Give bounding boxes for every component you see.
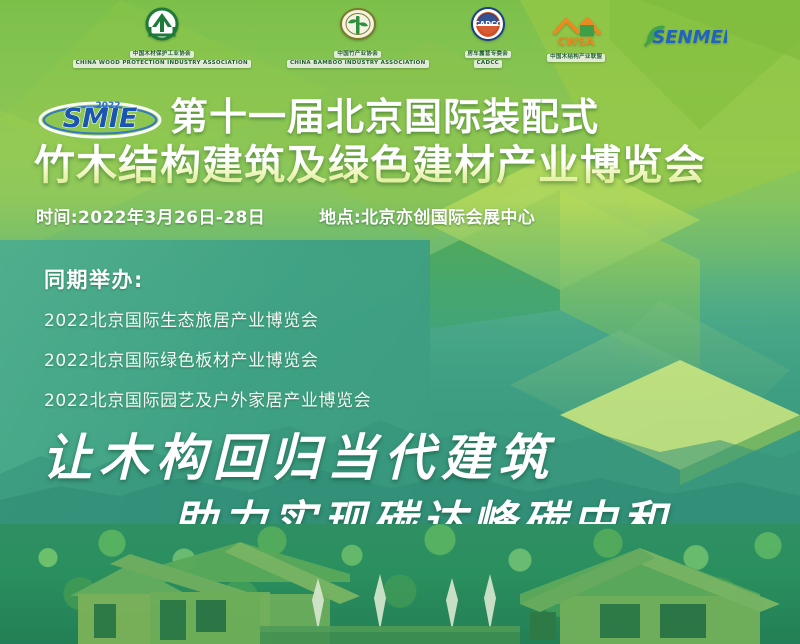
svg-text:2022: 2022 bbox=[95, 101, 120, 111]
senmei-logo[interactable]: SENMEI bbox=[641, 20, 727, 54]
china-wood-protection-label-en: CHINA WOOD PROTECTION INDUSTRY ASSOCIATI… bbox=[73, 60, 251, 68]
leaf-icon: SENMEI bbox=[641, 20, 727, 54]
china-wood-protection-industry-association-logo[interactable]: 中国木材保护工业协会 CHINA WOOD PROTECTION INDUSTR… bbox=[73, 7, 251, 68]
cadcc-rv-camping-committee-logo[interactable]: CADCC 房车露营专委会 CADCC bbox=[465, 7, 512, 68]
china-wood-protection-label: 中国木材保护工业协会 bbox=[130, 51, 194, 59]
sponsor-logo-row: 中国木材保护工业协会 CHINA WOOD PROTECTION INDUSTR… bbox=[0, 6, 800, 68]
title-line-2: 竹木结构建筑及绿色建材产业博览会 bbox=[34, 142, 706, 188]
svg-text:SENMEI: SENMEI bbox=[653, 27, 728, 48]
title-line-1: 第十一届北京国际装配式 bbox=[170, 96, 599, 138]
cadcc-seal-icon: CADCC bbox=[466, 7, 510, 49]
event-venue: 地点:北京亦创国际会展中心 bbox=[319, 203, 535, 228]
slogan-line-1: 让木构回归当代建筑 bbox=[42, 418, 555, 490]
cadcc-label-en: CADCC bbox=[474, 60, 502, 68]
svg-text:CWSA: CWSA bbox=[558, 35, 595, 48]
bamboo-industry-association-logo[interactable]: 中国竹产业协会 CHINA BAMBOO INDUSTRY ASSOCIATIO… bbox=[287, 7, 429, 68]
event-date: 时间:2022年3月26日-28日 bbox=[36, 203, 265, 228]
cadcc-label: 房车露营专委会 bbox=[465, 51, 512, 59]
tree-shield-icon bbox=[139, 7, 185, 49]
house-roof-icon: CWSA bbox=[548, 12, 604, 52]
concurrent-event-item: 2022北京国际生态旅居产业博览会 bbox=[44, 306, 371, 331]
concurrent-event-item: 2022北京国际绿色板材产业博览会 bbox=[44, 346, 371, 371]
forest-and-timber-cabins-photo bbox=[0, 524, 800, 644]
cwsa-label: 中国木结构产业联盟 bbox=[547, 54, 605, 62]
bamboo-association-label-en: CHINA BAMBOO INDUSTRY ASSOCIATION bbox=[287, 60, 429, 68]
svg-text:CADCC: CADCC bbox=[474, 20, 501, 28]
event-meta: 时间:2022年3月26日-28日 地点:北京亦创国际会展中心 bbox=[36, 203, 535, 228]
exhibition-poster: 中国木材保护工业协会 CHINA WOOD PROTECTION INDUSTR… bbox=[0, 0, 800, 644]
timber-cabins-illustration bbox=[0, 534, 800, 644]
bamboo-association-label: 中国竹产业协会 bbox=[334, 51, 381, 59]
cwsa-logo[interactable]: CWSA 中国木结构产业联盟 bbox=[547, 12, 605, 62]
concurrent-events-block: 同期举办: 2022北京国际生态旅居产业博览会 2022北京国际绿色板材产业博览… bbox=[44, 264, 371, 426]
bamboo-seal-icon bbox=[336, 7, 380, 49]
smie-logo[interactable]: SMIE 2022 bbox=[36, 94, 164, 138]
concurrent-events-heading: 同期举办: bbox=[44, 264, 371, 294]
